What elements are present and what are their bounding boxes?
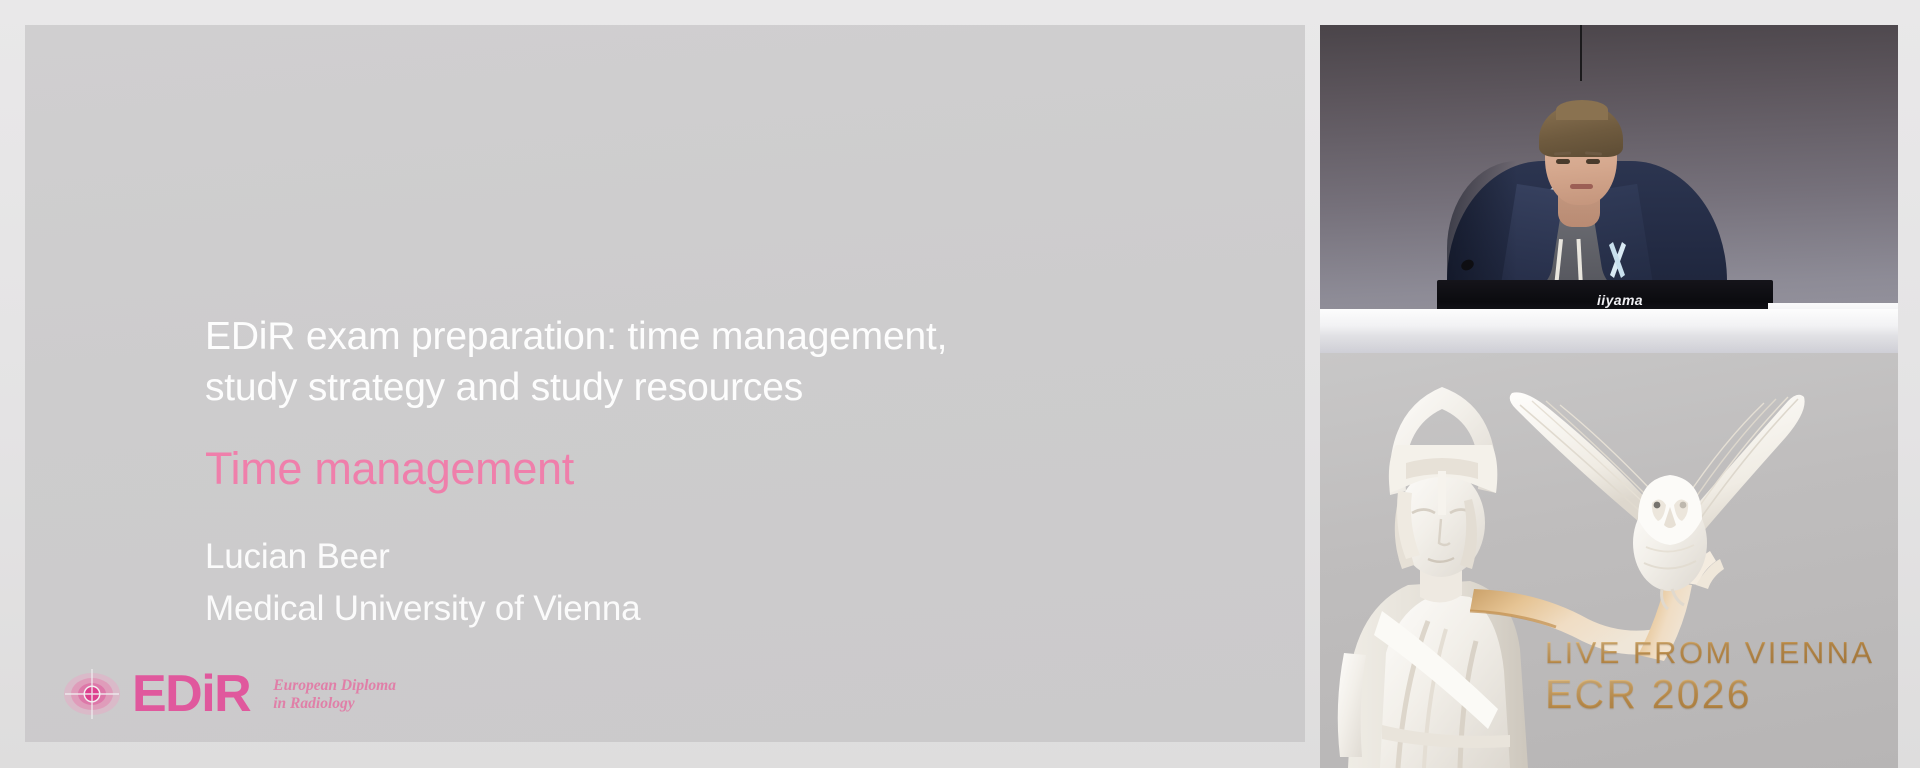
slide-text-block: EDiR exam preparation: time management, … [205,311,1245,635]
speaker-video-feed[interactable]: iiyama [1320,25,1898,353]
slide-content: EDiR exam preparation: time management, … [25,25,1305,742]
presenter-block: Lucian Beer Medical University of Vienna [205,531,1245,635]
speaker-eye-right [1586,159,1600,164]
ecr-branding-panel[interactable]: LIVE FROM VIENNA ECR 2026 [1320,353,1898,768]
slide-subtitle: Time management [205,443,1245,495]
presenter-affiliation: Medical University of Vienna [205,583,1245,635]
presenter-name: Lucian Beer [205,531,1245,583]
live-from-vienna-label: LIVE FROM VIENNA [1545,636,1875,670]
presentation-viewer: EDiR exam preparation: time management, … [0,0,1920,768]
slide-panel[interactable]: EDiR exam preparation: time management, … [25,25,1305,742]
speaker-eye-left [1556,159,1570,164]
lectern-surface [1320,309,1898,353]
ecr-text-block: LIVE FROM VIENNA ECR 2026 [1545,636,1875,716]
edir-wordmark: EDiR [132,668,250,720]
edir-logo: EDiR European Diploma in Radiology [63,665,396,723]
monitor-brand-label: iiyama [1597,292,1643,308]
slide-title: EDiR exam preparation: time management, … [205,311,1245,413]
ecr-event-label: ECR 2026 [1545,672,1875,716]
ceiling-wire [1580,25,1582,81]
edir-tagline: European Diploma in Radiology [273,677,396,713]
speaker-mouth [1570,184,1593,189]
eye-target-icon [63,665,121,723]
speaker-hair-tuft [1556,100,1608,120]
